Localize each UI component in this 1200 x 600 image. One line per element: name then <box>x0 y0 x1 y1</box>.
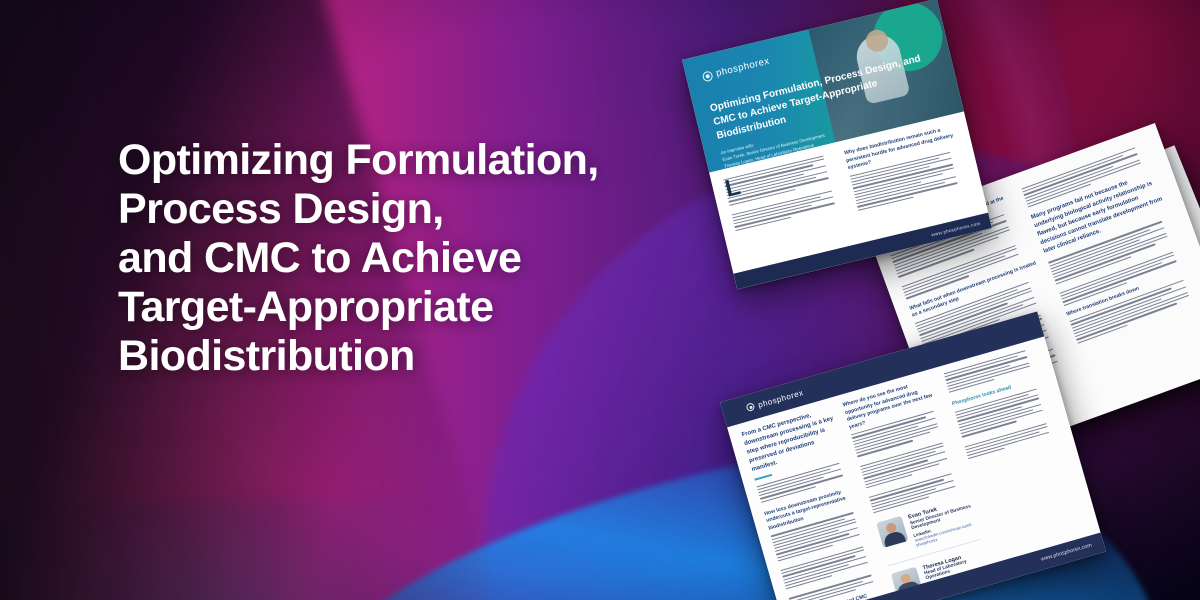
pullquote-rule <box>754 474 772 480</box>
headline-line-5: Biodistribution <box>118 332 678 381</box>
headline-line-2: Process Design, <box>118 185 678 234</box>
phosphorex-logo-icon <box>701 70 713 82</box>
headline-line-4: Target-Appropriate <box>118 283 678 332</box>
avatar-evan-turek <box>877 516 909 548</box>
page-title: Optimizing Formulation, Process Design, … <box>118 136 678 381</box>
cover-logo: phosphorex <box>701 56 770 83</box>
cover-logo-text: phosphorex <box>715 56 771 79</box>
cover-column-left: L <box>723 153 849 242</box>
headline-line-3: and CMC to Achieve <box>118 234 678 283</box>
phosphorex-logo-icon <box>745 402 755 412</box>
headline-line-1: Optimizing Formulation, <box>118 136 678 185</box>
hero-banner: Optimizing Formulation, Process Design, … <box>0 0 1200 600</box>
cover-column-right: Why does biodistribution remain such a p… <box>844 124 970 213</box>
